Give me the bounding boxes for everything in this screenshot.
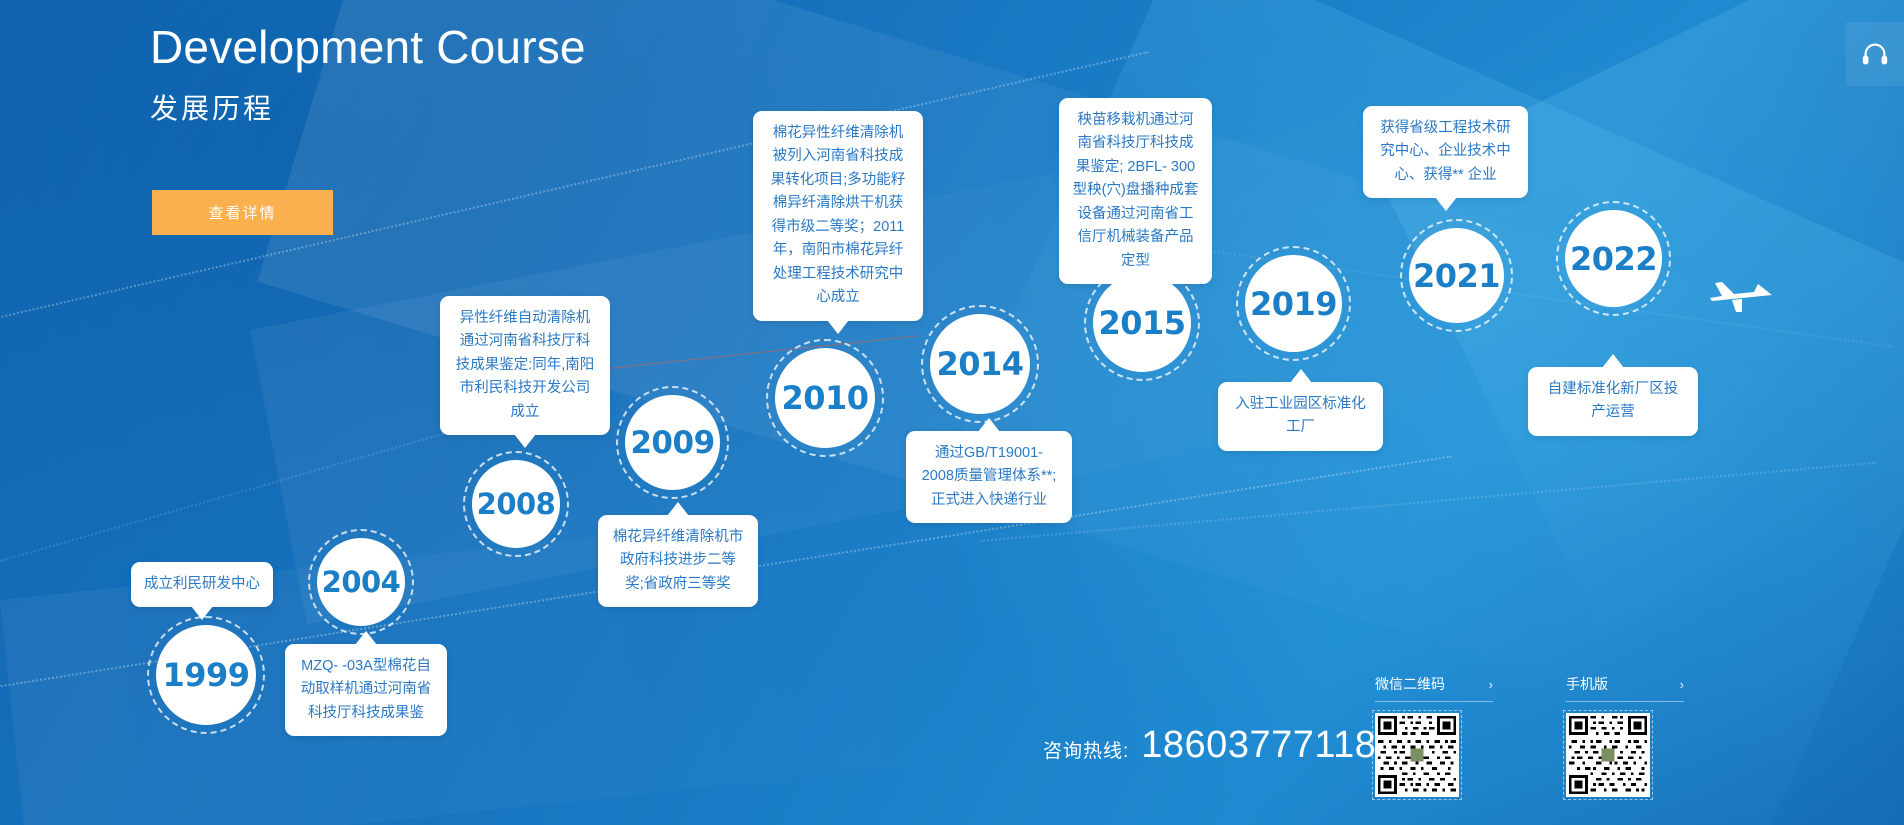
timeline-label-2015: 秧苗移栽机通过河南省科技厅科技成果鉴定; 2BFL- 300型秧(穴)盘播种成套… bbox=[1059, 98, 1212, 284]
bubble-tail-icon bbox=[355, 631, 377, 645]
timeline-year-2008[interactable]: 2008 bbox=[472, 460, 560, 548]
timeline-label-text: 棉花异性纤维清除机被列入河南省科技成果转化项目;多功能籽棉异纤清除烘干机获得市级… bbox=[771, 125, 906, 305]
bubble-tail-icon bbox=[827, 320, 849, 334]
bubble-tail-icon bbox=[1602, 354, 1624, 368]
timeline-year-2014[interactable]: 2014 bbox=[930, 314, 1030, 414]
timeline-year-2010[interactable]: 2010 bbox=[775, 348, 875, 448]
qr-block-wechat: 微信二维码 › bbox=[1375, 674, 1493, 797]
hotline: 咨询热线: 18603777118 bbox=[1043, 724, 1376, 767]
airplane-icon bbox=[1710, 272, 1774, 322]
timeline-year-2019[interactable]: 2019 bbox=[1245, 255, 1342, 352]
timeline-label-text: MZQ- -03A型棉花自动取样机通过河南省科技厅科技成果鉴 bbox=[301, 658, 432, 721]
timeline-label-text: 秧苗移栽机通过河南省科技厅科技成果鉴定; 2BFL- 300型秧(穴)盘播种成套… bbox=[1073, 112, 1199, 269]
timeline-label-text: 异性纤维自动清除机通过河南省科技厅科技成果鉴定:同年,南阳市利民科技开发公司成立 bbox=[456, 310, 595, 420]
timeline-year-2021[interactable]: 2021 bbox=[1409, 228, 1504, 323]
timeline-label-2021: 获得省级工程技术研究中心、企业技术中心、获得** 企业 bbox=[1363, 106, 1528, 198]
qr-code-image-mobile bbox=[1566, 713, 1650, 797]
qr-code-image-wechat bbox=[1375, 713, 1459, 797]
view-details-button[interactable]: 查看详情 bbox=[152, 190, 333, 235]
chevron-right-icon: › bbox=[1489, 677, 1493, 692]
timeline-label-2022: 自建标准化新厂区投产运营 bbox=[1528, 367, 1698, 436]
timeline-year-2022[interactable]: 2022 bbox=[1565, 210, 1662, 307]
timeline-year-2009[interactable]: 2009 bbox=[625, 395, 720, 490]
qr-label: 手机版 bbox=[1566, 674, 1608, 694]
page-root: Development Course 发展历程 查看详情 成立利民研发中心 19… bbox=[0, 0, 1904, 825]
timeline-label-2009: 棉花异纤维清除机市政府科技进步二等奖;省政府三等奖 bbox=[598, 515, 758, 607]
timeline-label-2010: 棉花异性纤维清除机被列入河南省科技成果转化项目;多功能籽棉异纤清除烘干机获得市级… bbox=[753, 111, 923, 321]
headset-icon bbox=[1860, 39, 1890, 69]
timeline-year-2004[interactable]: 2004 bbox=[317, 538, 405, 626]
timeline-label-2004: MZQ- -03A型棉花自动取样机通过河南省科技厅科技成果鉴 bbox=[285, 644, 447, 736]
timeline-label-2014: 通过GB/T19001-2008质量管理体系**;正式进入快递行业 bbox=[906, 431, 1072, 523]
qr-link-mobile[interactable]: 手机版 › bbox=[1566, 674, 1684, 702]
timeline-label-2019: 入驻工业园区标准化工厂 bbox=[1218, 382, 1383, 451]
hotline-number[interactable]: 18603777118 bbox=[1141, 724, 1376, 767]
timeline-year-2015[interactable]: 2015 bbox=[1093, 274, 1191, 372]
bubble-tail-icon bbox=[514, 434, 536, 448]
page-title-cn: 发展历程 bbox=[150, 87, 586, 127]
page-header: Development Course 发展历程 bbox=[150, 18, 586, 127]
chevron-right-icon: › bbox=[1680, 677, 1684, 692]
bubble-tail-icon bbox=[978, 418, 1000, 432]
customer-service-button[interactable] bbox=[1846, 22, 1904, 86]
bubble-tail-icon bbox=[1435, 197, 1457, 211]
qr-link-wechat[interactable]: 微信二维码 › bbox=[1375, 674, 1493, 702]
timeline-label-text: 成立利民研发中心 bbox=[144, 576, 260, 592]
qr-block-mobile: 手机版 › bbox=[1566, 674, 1684, 797]
timeline-label-2008: 异性纤维自动清除机通过河南省科技厅科技成果鉴定:同年,南阳市利民科技开发公司成立 bbox=[440, 296, 610, 435]
timeline-label-text: 通过GB/T19001-2008质量管理体系**;正式进入快递行业 bbox=[922, 445, 1057, 508]
timeline-label-text: 自建标准化新厂区投产运营 bbox=[1548, 381, 1679, 420]
timeline-label-text: 获得省级工程技术研究中心、企业技术中心、获得** 企业 bbox=[1380, 120, 1511, 183]
hotline-label: 咨询热线: bbox=[1043, 736, 1129, 763]
timeline-label-text: 棉花异纤维清除机市政府科技进步二等奖;省政府三等奖 bbox=[613, 529, 744, 592]
timeline-label-1999: 成立利民研发中心 bbox=[131, 562, 273, 607]
timeline-year-1999[interactable]: 1999 bbox=[156, 625, 256, 725]
timeline-label-text: 入驻工业园区标准化工厂 bbox=[1235, 396, 1366, 435]
page-title-en: Development Course bbox=[150, 18, 586, 77]
bubble-tail-icon bbox=[1290, 369, 1312, 383]
bubble-tail-icon bbox=[667, 502, 689, 516]
qr-label: 微信二维码 bbox=[1375, 674, 1445, 694]
